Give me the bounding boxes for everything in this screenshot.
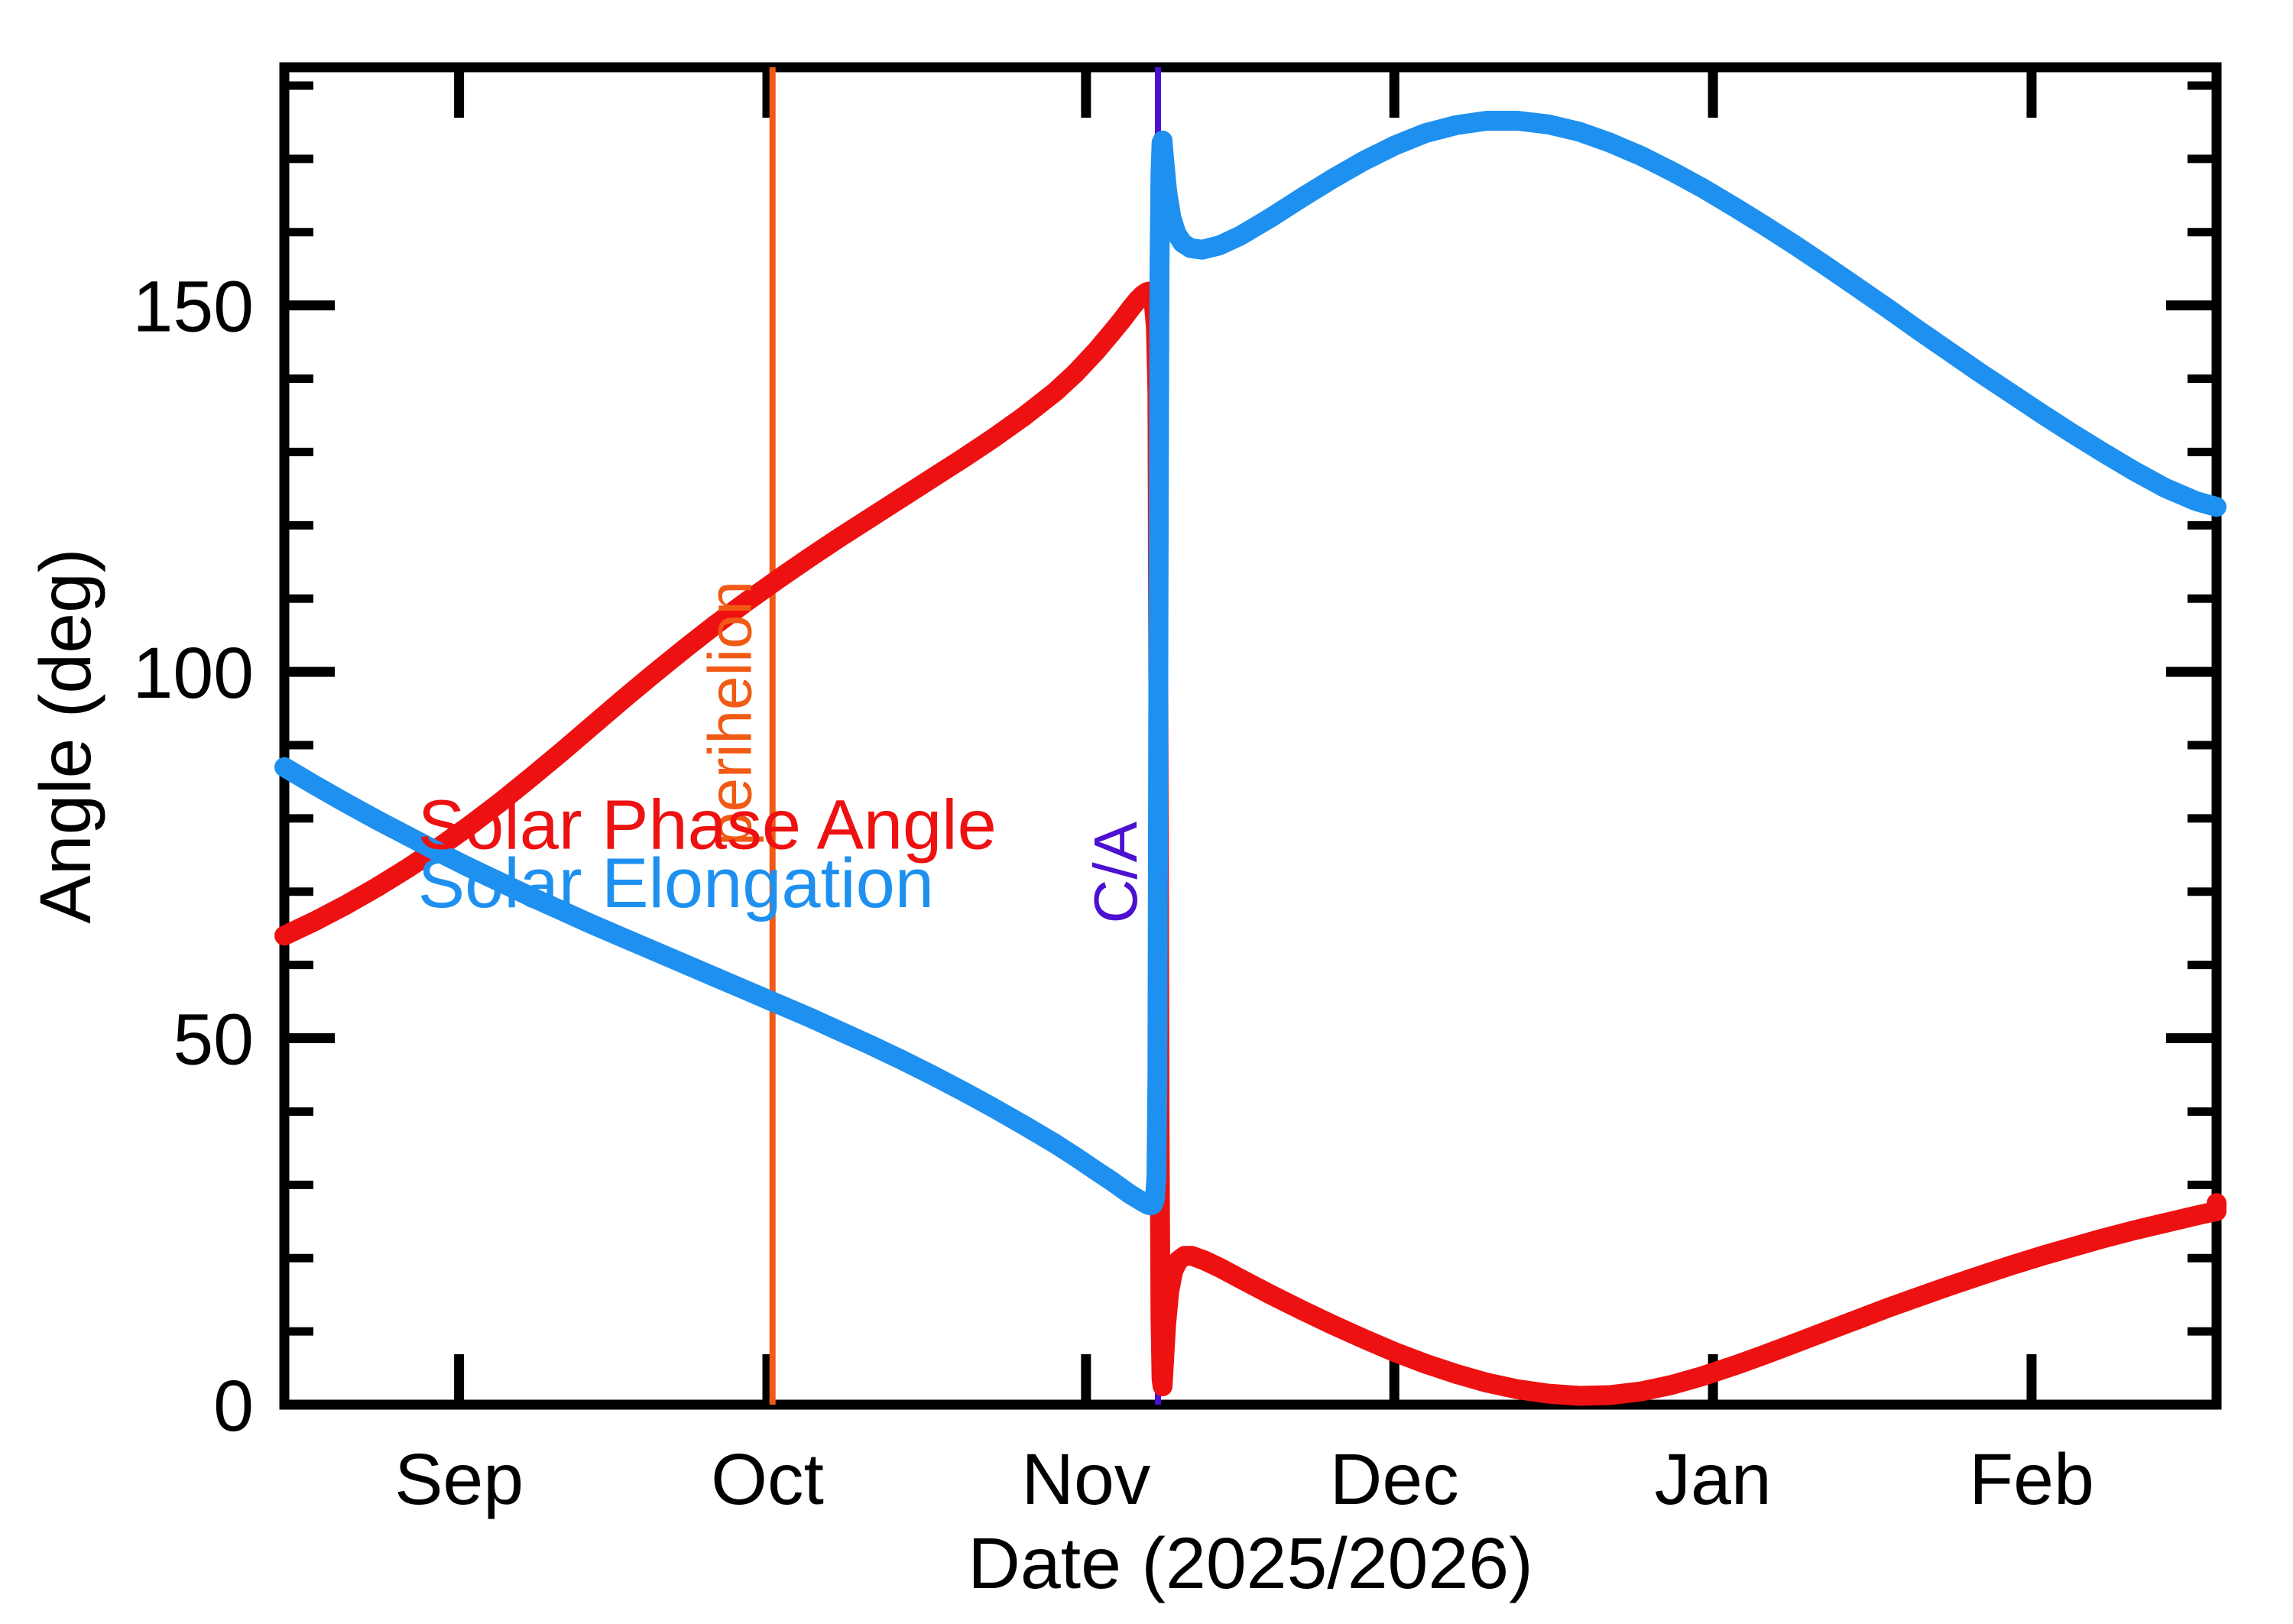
x-tick-label: Jan — [1655, 1439, 1772, 1520]
x-tick-label: Feb — [1969, 1439, 2094, 1520]
y-tick-label: 150 — [132, 267, 254, 348]
y-axis-title: Angle (deg) — [25, 548, 106, 923]
annotation-label-c-a: C/A — [1082, 821, 1150, 923]
chart-root: 050100150 SepOctNovDecJanFeb perihelionC… — [0, 0, 2293, 1624]
y-tick-label: 0 — [213, 1366, 254, 1447]
angle-vs-date-chart: 050100150 SepOctNovDecJanFeb perihelionC… — [0, 0, 2293, 1624]
x-tick-label: Dec — [1330, 1439, 1459, 1520]
x-tick-label: Nov — [1021, 1439, 1150, 1520]
x-axis-title: Date (2025/2026) — [968, 1523, 1532, 1604]
legend-group: Solar Phase AngleSolar Elongation — [418, 786, 997, 922]
y-tick-label: 50 — [173, 1000, 254, 1081]
legend-label-solar-elongation: Solar Elongation — [418, 844, 934, 922]
x-tick-label: Oct — [711, 1439, 824, 1520]
y-tick-label: 100 — [132, 633, 254, 714]
x-tick-label: Sep — [394, 1439, 524, 1520]
